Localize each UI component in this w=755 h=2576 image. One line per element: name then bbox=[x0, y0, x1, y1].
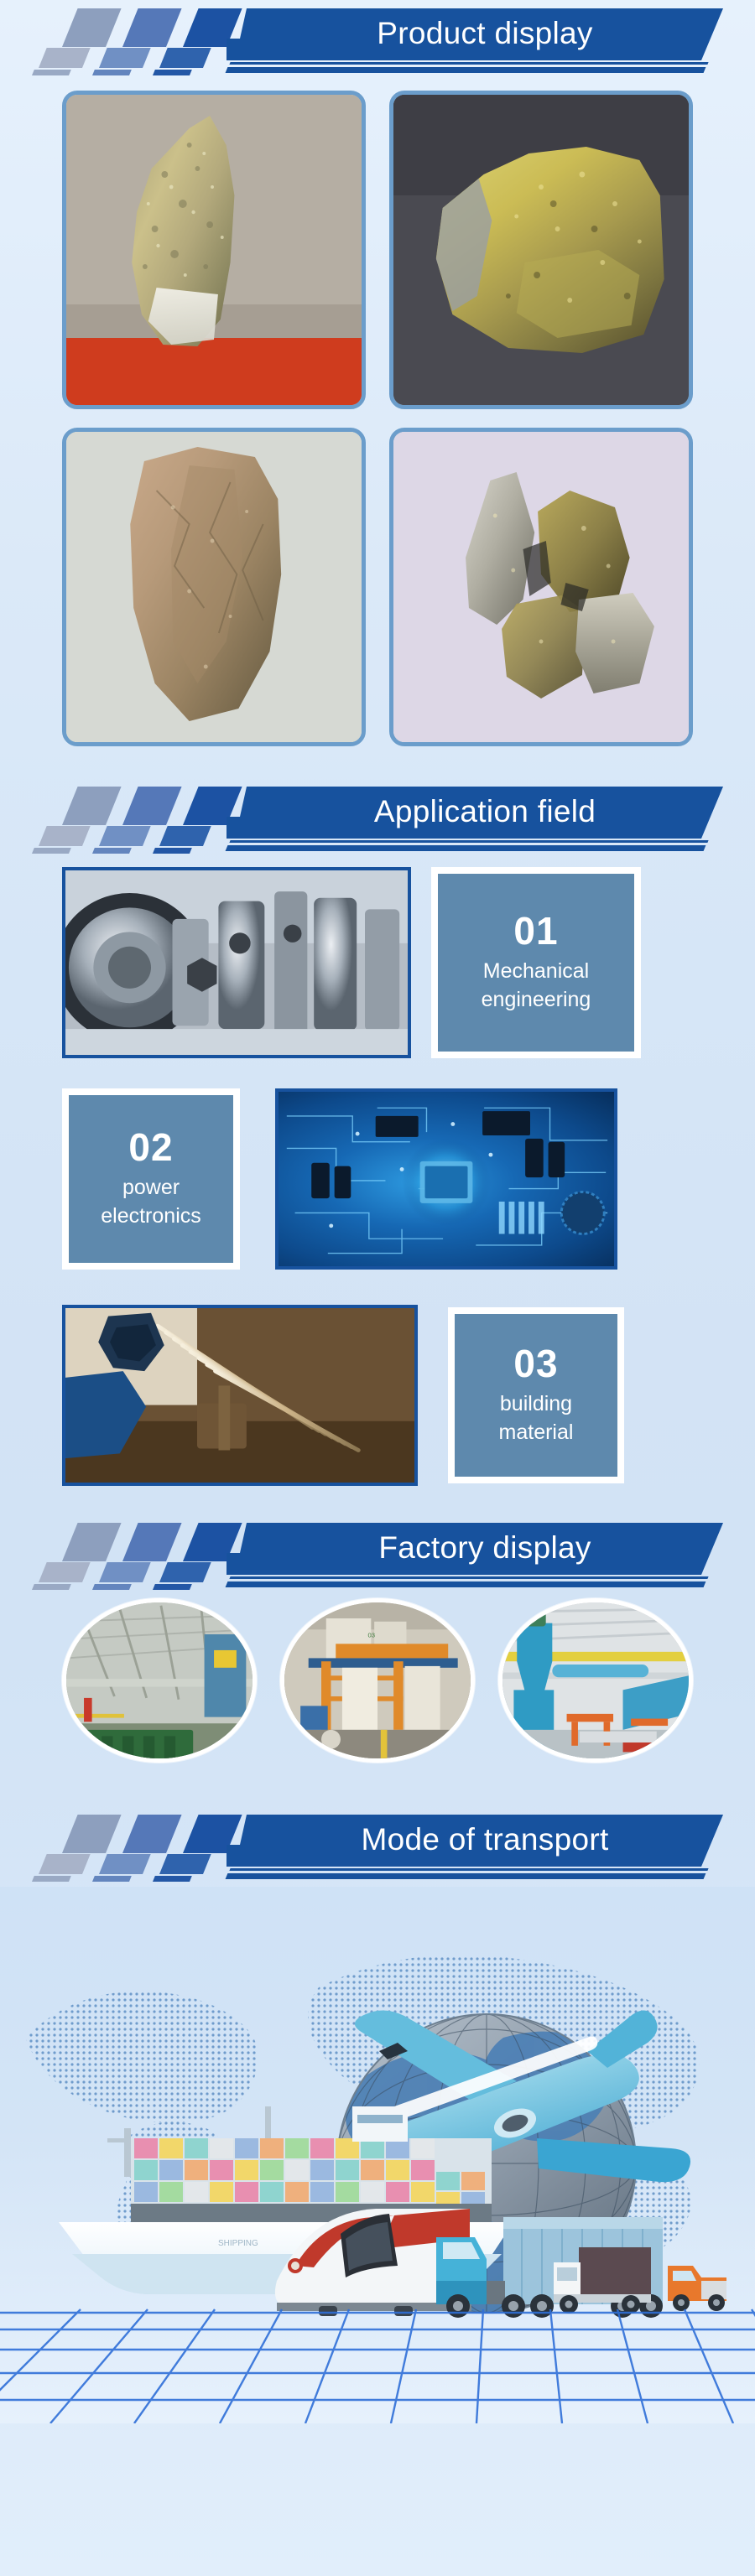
pickup-truck bbox=[668, 2266, 726, 2311]
application-label-line2: material bbox=[499, 1419, 574, 1447]
page-title-factory-display: Factory display bbox=[226, 1523, 723, 1575]
product-image-grid bbox=[34, 80, 721, 746]
factory-image-oval[interactable] bbox=[62, 1598, 257, 1763]
banner-rule-thick bbox=[226, 1873, 706, 1879]
banner-rule-thick bbox=[226, 1581, 706, 1587]
banner-rule-thin bbox=[229, 840, 708, 843]
product-image-card[interactable] bbox=[62, 91, 366, 409]
banner-rule-thin bbox=[229, 62, 708, 65]
metal-rods-image[interactable] bbox=[62, 1305, 418, 1486]
banner-rule-thin bbox=[229, 1868, 708, 1871]
application-label-card-03: 03 building material bbox=[448, 1307, 624, 1483]
application-label-line1: power bbox=[122, 1174, 180, 1202]
svg-text:03: 03 bbox=[368, 1632, 376, 1639]
product-image-card[interactable] bbox=[389, 428, 693, 746]
application-field-list: 01 Mechanical engineering 02 power elect… bbox=[34, 859, 721, 1493]
section-banner-mode-of-transport: Mode of transport bbox=[0, 1806, 755, 1887]
banner-rule-thin bbox=[229, 1576, 708, 1579]
application-number: 02 bbox=[128, 1127, 173, 1167]
banner-plate: Mode of transport bbox=[226, 1815, 723, 1867]
application-item: 02 power electronics bbox=[62, 1082, 693, 1276]
factory-image-row: 03 bbox=[34, 1595, 721, 1763]
blue-grid-floor bbox=[0, 2309, 755, 2423]
application-number: 03 bbox=[513, 1343, 558, 1384]
application-label-card-01: 01 Mechanical engineering bbox=[431, 867, 641, 1058]
application-label-line2: engineering bbox=[482, 986, 591, 1015]
gears-machinery-image[interactable] bbox=[62, 867, 411, 1058]
banner-rule-thick bbox=[226, 845, 706, 851]
application-label-card-02: 02 power electronics bbox=[62, 1088, 240, 1270]
section-banner-application-field: Application field bbox=[0, 778, 755, 859]
page-title-application-field: Application field bbox=[226, 787, 723, 839]
global-logistics-illustration: SHIPPING bbox=[0, 1887, 755, 2423]
factory-image-oval[interactable] bbox=[498, 1598, 693, 1763]
section-banner-product-display: Product display bbox=[0, 0, 755, 80]
containers bbox=[131, 2138, 492, 2210]
banner-rule-thick bbox=[226, 67, 706, 73]
application-item: 03 building material bbox=[62, 1298, 693, 1493]
svg-text:SHIPPING: SHIPPING bbox=[218, 2239, 258, 2248]
factory-image-oval[interactable]: 03 bbox=[280, 1598, 475, 1763]
banner-plate: Factory display bbox=[226, 1523, 723, 1575]
product-image-card[interactable] bbox=[389, 91, 693, 409]
product-image-card[interactable] bbox=[62, 428, 366, 746]
banner-plate: Product display bbox=[226, 8, 723, 60]
page-title-mode-of-transport: Mode of transport bbox=[226, 1815, 723, 1867]
application-label-line1: building bbox=[500, 1390, 572, 1419]
application-number: 01 bbox=[513, 911, 558, 951]
application-label-line2: electronics bbox=[101, 1202, 201, 1231]
circuit-board-image[interactable] bbox=[275, 1088, 617, 1270]
banner-plate: Application field bbox=[226, 787, 723, 839]
page-title-product-display: Product display bbox=[226, 8, 723, 60]
application-label-line1: Mechanical bbox=[483, 958, 589, 986]
section-banner-factory-display: Factory display bbox=[0, 1514, 755, 1595]
application-item: 01 Mechanical engineering bbox=[62, 865, 693, 1060]
